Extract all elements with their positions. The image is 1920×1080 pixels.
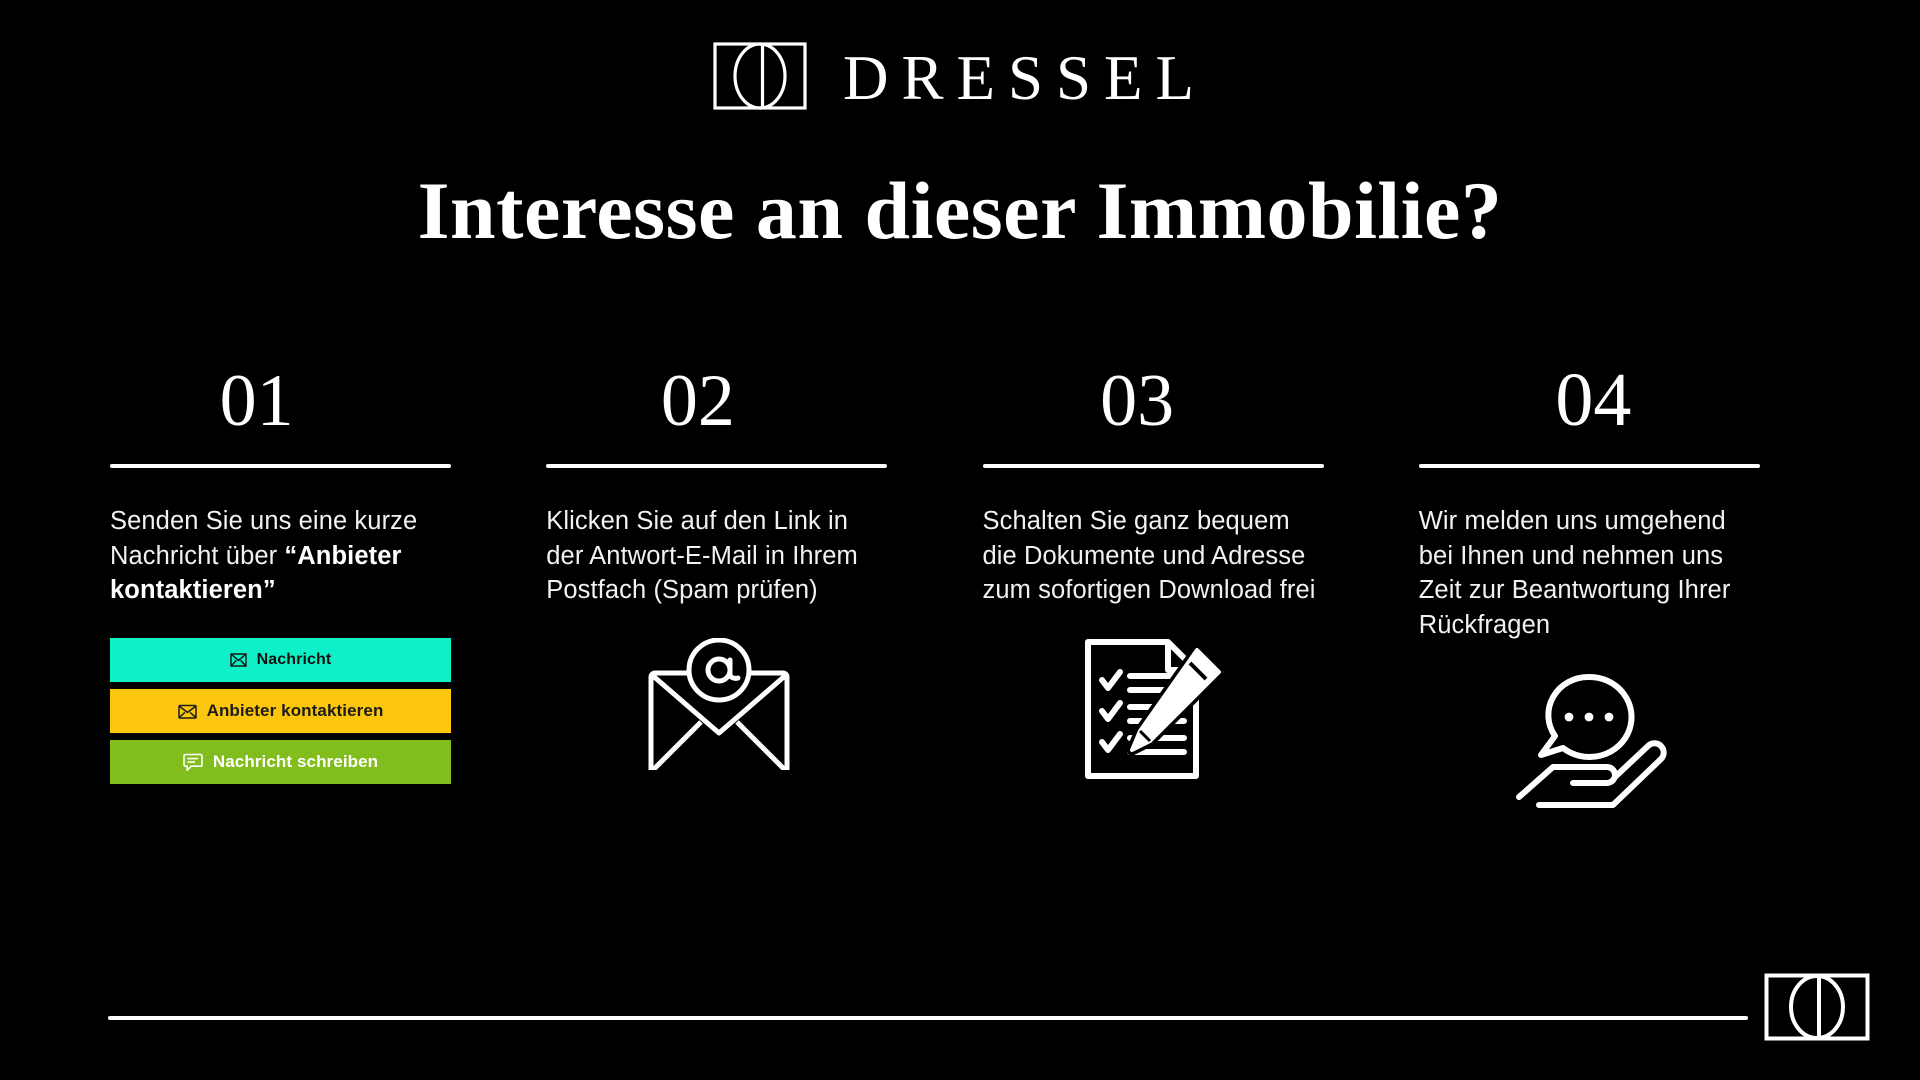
step-media: Nachricht Anbieter kontaktieren — [110, 638, 501, 808]
step-item-04: 04 Wir melden uns umgehend bei Ihnen und… — [1419, 352, 1810, 843]
step-description: Klicken Sie auf den Link in der Antwort-… — [546, 504, 891, 608]
step-divider — [1419, 464, 1760, 468]
step-divider — [110, 464, 451, 468]
step-number: 03 — [942, 352, 1333, 438]
anbieter-kontaktieren-button-label: Anbieter kontaktieren — [207, 701, 384, 721]
message-bubble-icon — [183, 753, 203, 772]
nachricht-schreiben-button-label: Nachricht schreiben — [213, 752, 378, 772]
step-description: Wir melden uns umgehend bei Ihnen und ne… — [1419, 504, 1764, 643]
step-media — [546, 638, 891, 808]
dressel-monogram-icon — [713, 42, 807, 115]
step-item-03: 03 Schalten Sie ganz bequem die Dokument… — [983, 352, 1374, 843]
envelope-icon — [178, 704, 197, 719]
step-media — [983, 638, 1328, 808]
step-description: Schalten Sie ganz bequem die Dokumente u… — [983, 504, 1328, 608]
step-number: 01 — [61, 352, 452, 438]
brand-wordmark: DRESSEL — [835, 47, 1207, 110]
contact-button-stack: Nachricht Anbieter kontaktieren — [110, 638, 451, 784]
steps-grid: 01 Senden Sie uns eine kurze Nachricht ü… — [110, 352, 1810, 843]
brand-header: DRESSEL — [0, 42, 1920, 115]
step-media — [1419, 673, 1764, 843]
footer-divider — [108, 1016, 1748, 1020]
step-number: 04 — [1398, 352, 1789, 438]
anbieter-kontaktieren-button[interactable]: Anbieter kontaktieren — [110, 689, 451, 733]
step-number: 02 — [502, 352, 893, 438]
step-description: Senden Sie uns eine kurze Nachricht über… — [110, 504, 455, 608]
nachricht-button[interactable]: Nachricht — [110, 638, 451, 682]
footer-logo — [1764, 973, 1870, 1046]
nachricht-button-label: Nachricht — [257, 651, 332, 669]
step-divider — [546, 464, 887, 468]
step-divider — [983, 464, 1324, 468]
dressel-monogram-icon — [1764, 1028, 1870, 1045]
email-at-envelope-icon — [643, 638, 795, 775]
envelope-icon — [230, 653, 247, 667]
nachricht-schreiben-button[interactable]: Nachricht schreiben — [110, 740, 451, 784]
checklist-document-pen-icon — [1080, 638, 1230, 788]
step-item-02: 02 Klicken Sie auf den Link in der Antwo… — [546, 352, 937, 843]
speech-bubble-on-hand-icon — [1511, 673, 1671, 814]
page-title: Interesse an dieser Immobilie? — [0, 168, 1920, 254]
step-item-01: 01 Senden Sie uns eine kurze Nachricht ü… — [110, 352, 501, 843]
